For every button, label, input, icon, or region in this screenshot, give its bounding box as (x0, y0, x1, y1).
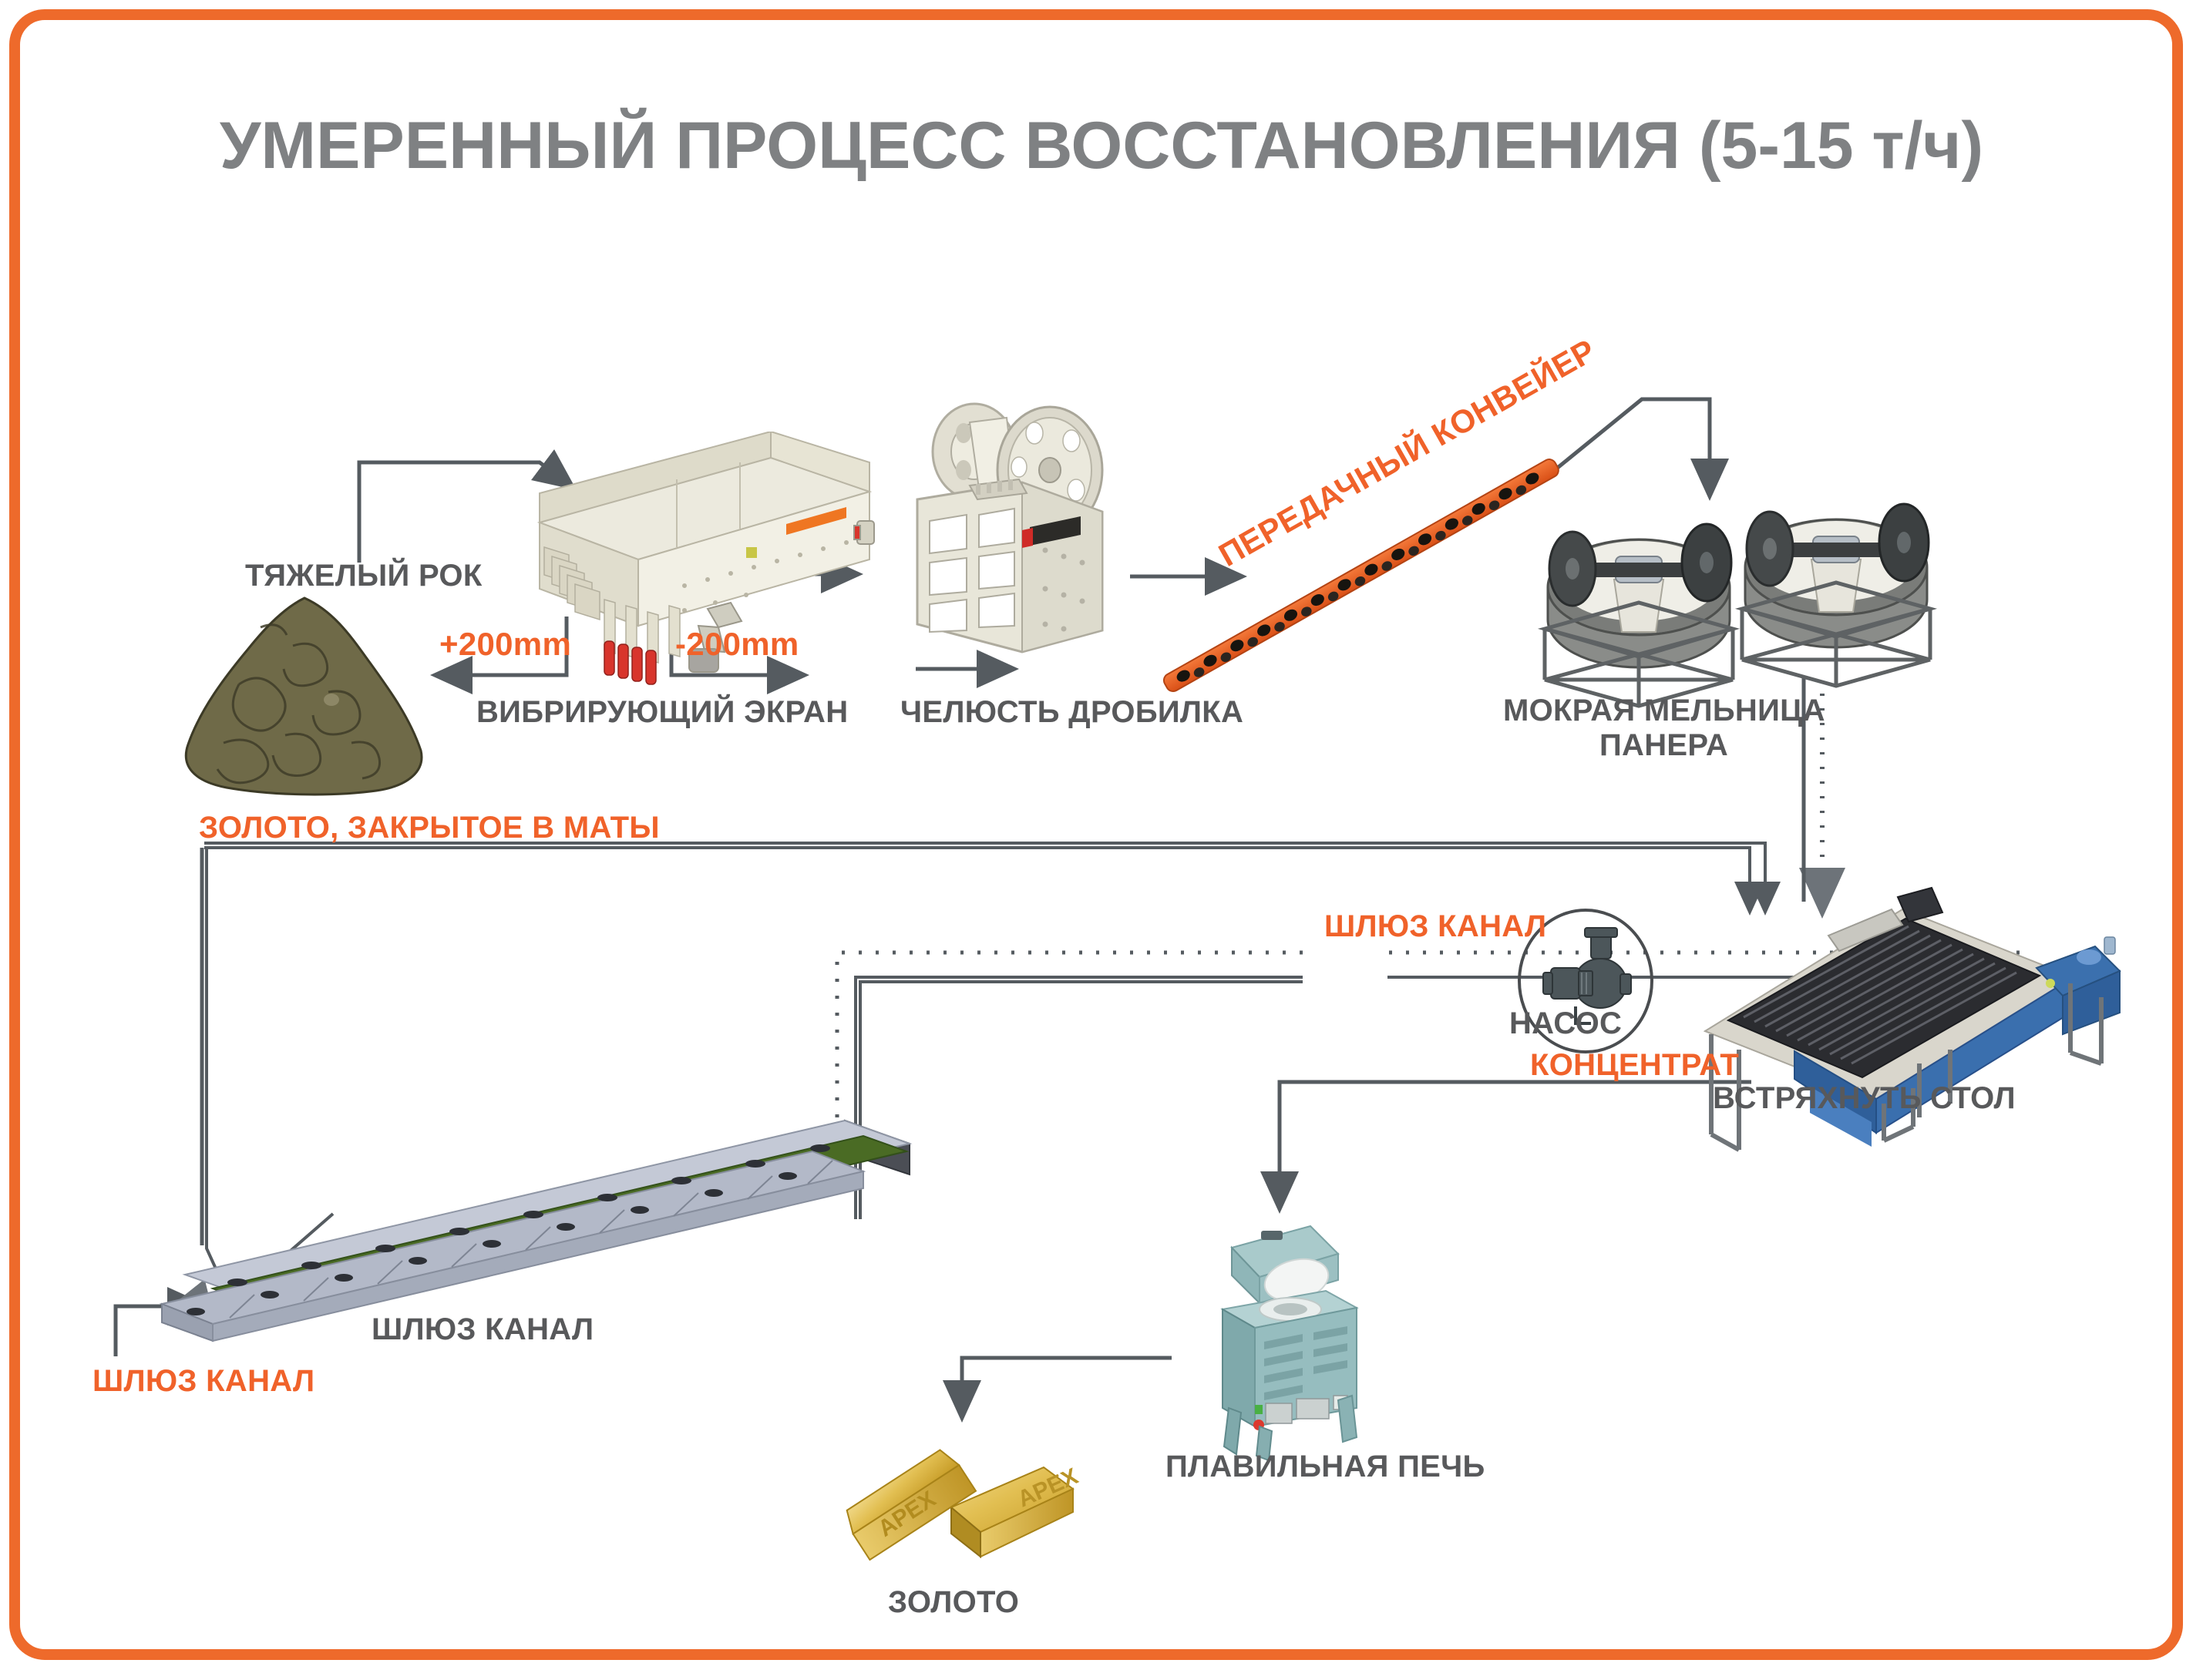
label-undersize-200mm: -200mm (675, 626, 799, 663)
label-oversize-200mm: +200mm (439, 626, 571, 663)
wet-pan-mill-2-image (1720, 465, 1952, 697)
label-concentrate: КОНЦЕНТРАТ (1530, 1048, 1739, 1083)
jaw-crusher-image (871, 399, 1149, 692)
page-title: УМЕРЕННЫЙ ПРОЦЕСС ВОССТАНОВЛЕНИЯ (5-15 т… (0, 108, 2203, 184)
label-jaw-crusher: ЧЕЛЮСТЬ ДРОБИЛКА (900, 695, 1243, 730)
label-pump: НАСОС (1509, 1006, 1622, 1041)
label-sluice-box: ШЛЮЗ КАНАЛ (372, 1312, 594, 1347)
smelting-furnace-image (1175, 1206, 1406, 1468)
label-sluice-channel-outlet: ШЛЮЗ КАНАЛ (92, 1364, 314, 1399)
gold-bars-image: APEX APEX (837, 1418, 1091, 1603)
wet-pan-mill-1-image (1523, 486, 1754, 717)
label-vibrating-screen: ВИБРИРУЮЩИЙ ЭКРАН (476, 695, 848, 730)
heavy-rock-image (177, 592, 432, 800)
label-smelting-furnace: ПЛАВИЛЬНАЯ ПЕЧЬ (1165, 1450, 1485, 1484)
label-heavy-rock: ТЯЖЕЛЫЙ РОК (245, 559, 483, 593)
label-shaking-table: ВСТРЯХНУТЬ СТОЛ (1713, 1081, 2016, 1116)
label-gold: ЗОЛОТО (888, 1585, 1019, 1620)
label-wet-pan-mill-line2: ПАНЕРА (1599, 728, 1728, 763)
label-sluice-channel-feed: ШЛЮЗ КАНАЛ (1324, 909, 1546, 944)
label-wet-pan-mill-line1: МОКРАЯ МЕЛЬНИЦА (1503, 694, 1825, 728)
label-gold-locked-in-mats: ЗОЛОТО, ЗАКРЫТОЕ В МАТЫ (199, 811, 660, 845)
